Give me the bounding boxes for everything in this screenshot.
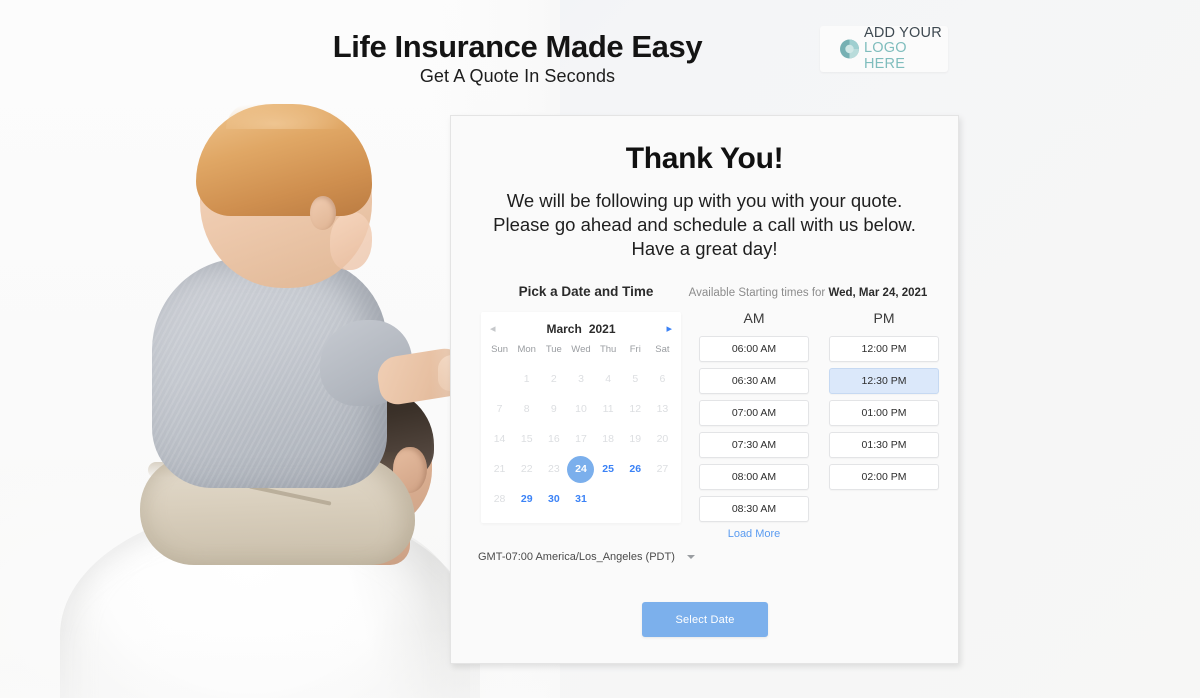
calendar-dow-sun: Sun <box>486 344 513 363</box>
calendar-dow-thu: Thu <box>595 344 622 363</box>
pm-heading: PM <box>829 310 939 326</box>
next-month-arrow-icon[interactable]: ▸ <box>666 324 672 335</box>
calendar-day-8: 8 <box>513 395 540 423</box>
prev-month-arrow-icon[interactable]: ◂ <box>490 324 496 335</box>
time-slot-02-00-pm[interactable]: 02:00 PM <box>829 464 939 490</box>
calendar-day-15: 15 <box>513 425 540 453</box>
logo-line-1: ADD YOUR <box>864 26 948 42</box>
calendar-day-3: 3 <box>567 365 594 393</box>
baby-hair-wisp <box>226 103 346 129</box>
calendar-day-12: 12 <box>622 395 649 423</box>
time-slot-01-00-pm[interactable]: 01:00 PM <box>829 400 939 426</box>
calendar-year: 2021 <box>589 322 616 336</box>
calendar-month-year: March2021 <box>546 322 615 336</box>
calendar-day-13: 13 <box>649 395 676 423</box>
brand-logo[interactable]: ADD YOUR LOGO HERE <box>820 26 948 72</box>
calendar-day-31[interactable]: 31 <box>567 485 594 513</box>
logo-line-2: LOGO HERE <box>864 41 948 72</box>
time-slot-01-30-pm[interactable]: 01:30 PM <box>829 432 939 458</box>
calendar-day-27: 27 <box>649 455 676 483</box>
logo-text: ADD YOUR LOGO HERE <box>864 26 948 73</box>
timezone-selector[interactable]: GMT-07:00 America/Los_Angeles (PDT) <box>478 551 695 563</box>
scheduler-widget: Pick a Date and Time Available Starting … <box>451 284 958 574</box>
page-header: Life Insurance Made Easy Get A Quote In … <box>0 0 1200 105</box>
calendar-day-29[interactable]: 29 <box>513 485 540 513</box>
baby-cheek <box>330 212 372 270</box>
calendar-day-18: 18 <box>595 425 622 453</box>
calendar-day-9: 9 <box>540 395 567 423</box>
calendar-dow-mon: Mon <box>513 344 540 363</box>
calendar-day-7: 7 <box>486 395 513 423</box>
calendar-dow-tue: Tue <box>540 344 567 363</box>
time-slot-12-30-pm[interactable]: 12:30 PM <box>829 368 939 394</box>
calendar-day-4: 4 <box>595 365 622 393</box>
calendar-day-blank <box>486 365 513 393</box>
calendar-day-14: 14 <box>486 425 513 453</box>
baby-ear <box>310 196 336 230</box>
calendar-day-17: 17 <box>567 425 594 453</box>
am-slot-list: 06:00 AM06:30 AM07:00 AM07:30 AM08:00 AM… <box>699 336 809 522</box>
time-slot-columns: AM 06:00 AM06:30 AM07:00 AM07:30 AM08:00… <box>699 310 939 540</box>
load-more-link[interactable]: Load More <box>699 528 809 540</box>
calendar-dow-sat: Sat <box>649 344 676 363</box>
calendar-selected-pill: 24 <box>567 456 594 483</box>
calendar-day-30[interactable]: 30 <box>540 485 567 513</box>
thank-you-heading: Thank You! <box>451 142 958 176</box>
calendar-day-16: 16 <box>540 425 567 453</box>
calendar-day-11: 11 <box>595 395 622 423</box>
thank-you-line-3: Have a great day! <box>451 237 958 261</box>
time-slot-08-00-am[interactable]: 08:00 AM <box>699 464 809 490</box>
available-times-date: Wed, Mar 24, 2021 <box>828 287 927 299</box>
calendar-day-20: 20 <box>649 425 676 453</box>
calendar-month: March <box>546 322 581 336</box>
time-slot-08-30-am[interactable]: 08:30 AM <box>699 496 809 522</box>
pick-date-time-label: Pick a Date and Time <box>471 284 701 299</box>
calendar-day-21: 21 <box>486 455 513 483</box>
logo-mark-icon <box>825 30 863 68</box>
calendar-dow-wed: Wed <box>567 344 594 363</box>
am-heading: AM <box>699 310 809 326</box>
calendar-day-23: 23 <box>540 455 567 483</box>
calendar-nav: ◂ March2021 ▸ <box>486 320 676 344</box>
calendar-day-19: 19 <box>622 425 649 453</box>
calendar-day-25[interactable]: 25 <box>595 455 622 483</box>
calendar-day-26[interactable]: 26 <box>622 455 649 483</box>
time-slot-06-30-am[interactable]: 06:30 AM <box>699 368 809 394</box>
calendar-day-28: 28 <box>486 485 513 513</box>
thank-you-line-1: We will be following up with you with yo… <box>451 189 958 213</box>
calendar-day-1: 1 <box>513 365 540 393</box>
time-slot-12-00-pm[interactable]: 12:00 PM <box>829 336 939 362</box>
calendar-day-5: 5 <box>622 365 649 393</box>
time-slot-07-30-am[interactable]: 07:30 AM <box>699 432 809 458</box>
thank-you-line-2: Please go ahead and schedule a call with… <box>451 213 958 237</box>
select-date-button[interactable]: Select Date <box>642 602 768 637</box>
caret-down-icon[interactable] <box>687 555 695 559</box>
calendar-grid: SunMonTueWedThuFriSat1234567891011121314… <box>486 344 676 513</box>
pm-column: PM 12:00 PM12:30 PM01:00 PM01:30 PM02:00… <box>829 310 939 540</box>
am-column: AM 06:00 AM06:30 AM07:00 AM07:30 AM08:00… <box>699 310 809 540</box>
timezone-label: GMT-07:00 America/Los_Angeles (PDT) <box>478 551 675 563</box>
calendar-day-10: 10 <box>567 395 594 423</box>
calendar-day-22: 22 <box>513 455 540 483</box>
calendar-dow-fri: Fri <box>622 344 649 363</box>
calendar-day-6: 6 <box>649 365 676 393</box>
calendar-day-2: 2 <box>540 365 567 393</box>
time-slot-06-00-am[interactable]: 06:00 AM <box>699 336 809 362</box>
thank-you-card: Thank You! We will be following up with … <box>450 115 959 664</box>
pm-slot-list: 12:00 PM12:30 PM01:00 PM01:30 PM02:00 PM <box>829 336 939 490</box>
time-slot-07-00-am[interactable]: 07:00 AM <box>699 400 809 426</box>
date-picker-calendar[interactable]: ◂ March2021 ▸ SunMonTueWedThuFriSat12345… <box>481 312 681 523</box>
available-times-prefix: Available Starting times for <box>689 287 829 299</box>
calendar-day-24[interactable]: 24 <box>567 455 594 483</box>
available-times-label: Available Starting times for Wed, Mar 24… <box>673 287 943 299</box>
thank-you-message: We will be following up with you with yo… <box>451 189 958 261</box>
